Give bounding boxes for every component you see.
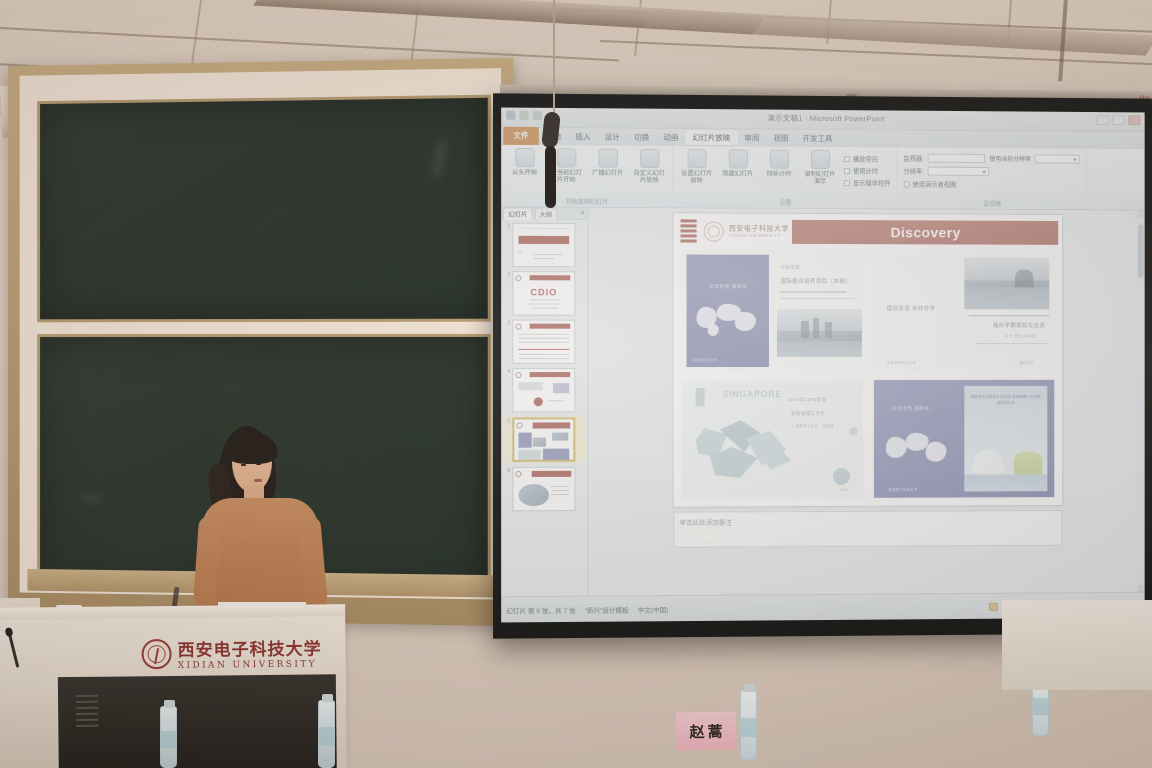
- checkbox-label: 使用演示者视图: [912, 179, 956, 188]
- theme-name[interactable]: “新兴”设计模板: [585, 604, 629, 614]
- projector-screen: 演示文稿1 - Microsoft PowerPoint 文件 开始 插入 设计…: [493, 93, 1152, 638]
- thumbnail-preview[interactable]: [512, 320, 575, 364]
- slide-title: Discovery: [891, 224, 961, 240]
- ribbon-button-label: 隐藏幻灯片: [722, 170, 753, 177]
- ribbon[interactable]: 从头开始 从当前幻灯片开始 广播幻灯片: [501, 145, 1144, 211]
- tab-file[interactable]: 文件: [503, 127, 539, 145]
- checkbox-icon[interactable]: [844, 180, 850, 186]
- quadrant2-heading: 海外学期项目与交流: [993, 321, 1045, 329]
- field-monitor[interactable]: 监视器: 使用当前分辨率: [904, 153, 1081, 163]
- quadrant2-sub: 中 外 联合 培养项目: [1005, 333, 1038, 338]
- setup-show-icon: [687, 149, 706, 168]
- bottle-label: [741, 718, 756, 737]
- thumbnail-number: 5: [503, 417, 510, 424]
- tab-slideshow[interactable]: 幻灯片放映: [686, 130, 738, 146]
- scroll-up-arrow[interactable]: [1138, 210, 1144, 217]
- thumbnail-item[interactable]: 3: [503, 320, 585, 364]
- bottle-label: [1033, 698, 1048, 715]
- singapore-card: SINGAPORE 2019年CDIO年会 新加坡理工大学 —— 国际学术会议 …: [683, 381, 863, 498]
- main-scrollbar[interactable]: [1138, 210, 1144, 591]
- ribbon-button-broadcast[interactable]: 广播幻灯片: [591, 148, 625, 176]
- tab-review[interactable]: 审阅: [737, 130, 766, 146]
- checkbox-play-narration[interactable]: 播放旁白: [844, 154, 891, 163]
- tab-design[interactable]: 设计: [598, 129, 627, 145]
- tab-transitions[interactable]: 切换: [627, 130, 656, 146]
- checkbox-label: 显示媒体控件: [853, 178, 891, 187]
- ribbon-group-monitors: 监视器: 使用当前分辨率 分辨率: 使用演示者视: [898, 147, 1088, 209]
- thumbnail-number: 1: [503, 223, 510, 230]
- thumbnail-preview[interactable]: [512, 467, 575, 512]
- lectern-side: [0, 673, 61, 768]
- slide-quadrant-4: 交流合作 国际化 西安电子科技大学 国际学术交流会议: [872, 378, 1056, 500]
- lectern-vent: [76, 695, 98, 731]
- world-map-graphic: [694, 302, 763, 340]
- right-wall-board: [1002, 600, 1152, 690]
- quadrant2-center-text: 国际交流 合作办学: [887, 304, 936, 312]
- projected-image: 演示文稿1 - Microsoft PowerPoint 文件 开始 插入 设计…: [501, 108, 1144, 623]
- ribbon-button-label: 排练计时: [767, 171, 792, 178]
- presenter-fringe: [226, 432, 278, 464]
- tab-developer[interactable]: 开发工具: [795, 131, 839, 147]
- presenter-mouth: [254, 479, 262, 482]
- landscape-photo: [964, 258, 1049, 309]
- checkbox-label: 播放旁白: [853, 154, 878, 163]
- quadrant3-heading: 2019年CDIO年会: [787, 397, 826, 403]
- language-indicator[interactable]: 中文(中国): [638, 604, 669, 614]
- rehearse-timings-icon: [769, 150, 788, 169]
- lectern-top-edge: [0, 604, 345, 620]
- ribbon-button-label: 广播幻灯片: [592, 170, 623, 177]
- thumbnail-item[interactable]: 2 CDIO: [503, 271, 585, 316]
- ribbon-group-label: 监视器: [983, 199, 1001, 209]
- bottle-cap: [744, 684, 755, 692]
- ribbon-group-start-show: 从头开始 从当前幻灯片开始 广播幻灯片: [501, 145, 673, 207]
- thumbnail-number: 6: [503, 467, 510, 474]
- conference-cover: 国际学术交流会议 新加坡 新加坡理工大学学术访问交流: [964, 386, 1047, 492]
- hide-slide-icon: [728, 149, 747, 168]
- name-card: 赵 蒿: [676, 711, 737, 750]
- normal-view-icon[interactable]: [989, 602, 998, 610]
- notes-pane[interactable]: 单击此处添加备注: [673, 510, 1062, 548]
- lectern-front-panel: [58, 674, 337, 768]
- singapore-lowpoly-map: [693, 416, 812, 484]
- scrollbar-thumb[interactable]: [1138, 224, 1144, 278]
- bottle-cap: [322, 694, 333, 702]
- skyline-foliage: [1014, 451, 1042, 474]
- thumbnail-item[interactable]: 4: [503, 368, 585, 412]
- thumbnail-preview[interactable]: ▪▪▪▪: [512, 223, 575, 268]
- xidian-logo-icon: [704, 221, 724, 241]
- quadrant1-subheading: 国际联合培养项目（本硕）: [780, 277, 851, 285]
- quadrant4-cover-title: 国际学术交流会议 新加坡 新加坡理工大学学术访问交流: [971, 394, 1041, 406]
- singapore-title: SINGAPORE: [722, 389, 782, 399]
- xidian-seal-icon: [141, 638, 171, 668]
- thumbnail-item[interactable]: 1 ▪▪▪▪: [503, 223, 585, 268]
- checkbox-icon[interactable]: [904, 181, 910, 187]
- thumbnail-list[interactable]: 1 ▪▪▪▪ 2: [501, 220, 587, 597]
- ribbon-button-record[interactable]: 录制幻灯片演示: [803, 150, 837, 185]
- checkbox-icon[interactable]: [844, 156, 850, 162]
- notes-placeholder: 单击此处添加备注: [679, 516, 731, 526]
- thumbnail-headline: CDIO: [513, 287, 574, 297]
- checkbox-show-media-controls[interactable]: 显示媒体控件: [844, 178, 891, 187]
- record-narration-icon: [811, 150, 830, 169]
- close-button[interactable]: [1128, 115, 1141, 125]
- thumbnail-item-selected[interactable]: 5: [503, 416, 585, 463]
- pane-tab-outline[interactable]: 大纲: [534, 207, 557, 219]
- play-from-start-icon: [515, 148, 534, 167]
- quadrant4-left-text: 交流合作 国际化: [892, 406, 930, 412]
- water-bottle: [740, 690, 757, 760]
- tab-insert[interactable]: 插入: [568, 129, 597, 145]
- powerpoint-window: 演示文稿1 - Microsoft PowerPoint 文件 开始 插入 设计…: [501, 108, 1144, 623]
- ribbon-button-custom-show[interactable]: 自定义幻灯片放映: [632, 149, 666, 184]
- ribbon-group-label: 设置: [779, 198, 791, 208]
- ribbon-button-label: 设置幻灯片放映: [679, 170, 713, 184]
- eye-left: [241, 464, 246, 466]
- quadrant1-heading: 学科交流: [780, 264, 800, 270]
- brochure-footer: 西安电子科技大学: [693, 358, 717, 362]
- document-title: 演示文稿1 - Microsoft PowerPoint: [501, 111, 1144, 127]
- name-card-char-2: 赵: [689, 721, 704, 742]
- ribbon-group-label: 开始放映幻灯片: [566, 197, 609, 207]
- campus-photo: [777, 308, 863, 357]
- brochure-cover-purple: 交流合作 国际化 西安电子科技大学: [687, 254, 769, 367]
- resolution-dropdown[interactable]: [1035, 154, 1080, 163]
- current-slide[interactable]: 西安电子科技大学 XIDIAN UNIVERSITY Discovery 交流合…: [673, 213, 1062, 506]
- close-icon[interactable]: ×: [580, 210, 584, 217]
- thumbnail-preview[interactable]: [512, 368, 575, 412]
- restore-button[interactable]: [1112, 115, 1125, 125]
- field-resolution[interactable]: 分辨率:: [904, 166, 1081, 176]
- monitor-dropdown[interactable]: [928, 154, 985, 163]
- ribbon-button-setup-show[interactable]: 设置幻灯片放映: [679, 149, 713, 184]
- ribbon-button-label: 从头开始: [512, 169, 537, 176]
- ribbon-group-setup: 设置幻灯片放映 隐藏幻灯片 排练计时: [673, 146, 897, 208]
- thumbnail-number: 4: [503, 368, 510, 375]
- pane-tabs[interactable]: 幻灯片 大纲 ×: [501, 207, 587, 219]
- ribbon-button-rehearse[interactable]: 排练计时: [762, 150, 796, 178]
- slide-content-grid: 交流合作 国际化 西安电子科技大学: [679, 249, 1056, 500]
- map-badge: [833, 468, 850, 485]
- bottle-label: [319, 727, 334, 745]
- slide-editor: 西安电子科技大学 XIDIAN UNIVERSITY Discovery 交流合…: [589, 208, 1145, 596]
- play-current-icon: [557, 148, 576, 167]
- thumbnail-preview[interactable]: CDIO: [512, 271, 575, 316]
- slide-university-en: XIDIAN UNIVERSITY: [729, 233, 781, 238]
- lectern-university-en: XIDIAN UNIVERSITY: [178, 659, 322, 671]
- broadcast-icon: [598, 149, 617, 168]
- ceiling-light-strip: [642, 8, 1152, 55]
- minimize-button[interactable]: [1097, 115, 1110, 125]
- slide-quadrant-2: 国际交流 合作办学 海外学期项目与交流 中 外 联合 培养项目: [872, 250, 1056, 372]
- water-bottle: [318, 700, 335, 768]
- slide-quadrant-1: 交流合作 国际化 西安电子科技大学: [679, 249, 865, 372]
- field-label: 分辨率:: [904, 166, 925, 175]
- thumbnail-number: 2: [503, 271, 510, 278]
- slide-title-bar: Discovery: [792, 220, 1058, 245]
- ribbon-button-label: 录制幻灯片演示: [803, 171, 837, 185]
- ribbon-button-label: 自定义幻灯片放映: [632, 170, 666, 184]
- tab-animations[interactable]: 动画: [656, 130, 685, 146]
- singapore-flag-shape: [695, 388, 704, 406]
- slide-quadrant-3: SINGAPORE 2019年CDIO年会 新加坡理工大学 —— 国际学术会议 …: [679, 378, 865, 501]
- resolution-value: 使用当前分辨率: [989, 154, 1031, 163]
- esplanade-illustration: [971, 449, 1004, 477]
- scroll-down-arrow[interactable]: [1138, 585, 1144, 592]
- chalkboard-upper-panel: [37, 95, 491, 323]
- waterfront-band: [964, 474, 1047, 491]
- resolution-select[interactable]: [928, 167, 989, 176]
- world-map-graphic: [885, 432, 950, 470]
- blue-panel: 交流合作 国际化 西安电子科技大学 国际学术交流会议: [874, 380, 1054, 498]
- ribbon-button-hide-slide[interactable]: 隐藏幻灯片: [721, 149, 755, 177]
- slide-counter: 幻灯片 第 5 张，共 7 张: [506, 604, 575, 615]
- lectern-university-cn: 西安电子科技大学: [177, 634, 321, 661]
- map-marker-dot: [849, 427, 858, 436]
- brochure-title: 交流合作 国际化: [687, 284, 769, 290]
- ribbon-checkbox-list[interactable]: 播放旁白 使用计时 显示媒体控件: [844, 150, 891, 187]
- checkbox-use-timings[interactable]: 使用计时: [844, 166, 891, 175]
- lecture-hall-scene: Hw 演示文稿1 - Microsoft PowerPoint: [0, 0, 1152, 768]
- checkbox-icon[interactable]: [844, 168, 850, 174]
- tab-view[interactable]: 视图: [766, 131, 795, 147]
- hanging-microphone-body: [545, 146, 556, 208]
- pane-tab-slides[interactable]: 幻灯片: [503, 207, 532, 219]
- water-bottle: [160, 706, 177, 768]
- slides-pane[interactable]: 幻灯片 大纲 × 1 ▪▪▪▪: [501, 207, 588, 596]
- editor-body: 幻灯片 大纲 × 1 ▪▪▪▪: [501, 207, 1144, 596]
- checkbox-presenter-view[interactable]: 使用演示者视图: [904, 179, 1081, 189]
- bottle-cap: [164, 700, 175, 708]
- hanging-cable: [553, 0, 555, 118]
- ribbon-button-from-beginning[interactable]: 从头开始: [507, 148, 542, 176]
- thumbnail-item[interactable]: 6: [503, 467, 585, 512]
- custom-show-icon: [640, 149, 659, 168]
- bottle-label: [161, 731, 176, 748]
- slide-decor-bars: [680, 219, 696, 244]
- field-label: 监视器:: [904, 153, 925, 162]
- window-controls[interactable]: [1097, 115, 1141, 125]
- thumbnail-number: 3: [503, 320, 510, 327]
- checkbox-label: 使用计时: [853, 166, 878, 175]
- name-card-char-1: 蒿: [707, 720, 722, 741]
- lectern-branding: 西安电子科技大学 XIDIAN UNIVERSITY: [141, 634, 321, 671]
- thumbnail-preview-discovery[interactable]: [512, 417, 575, 462]
